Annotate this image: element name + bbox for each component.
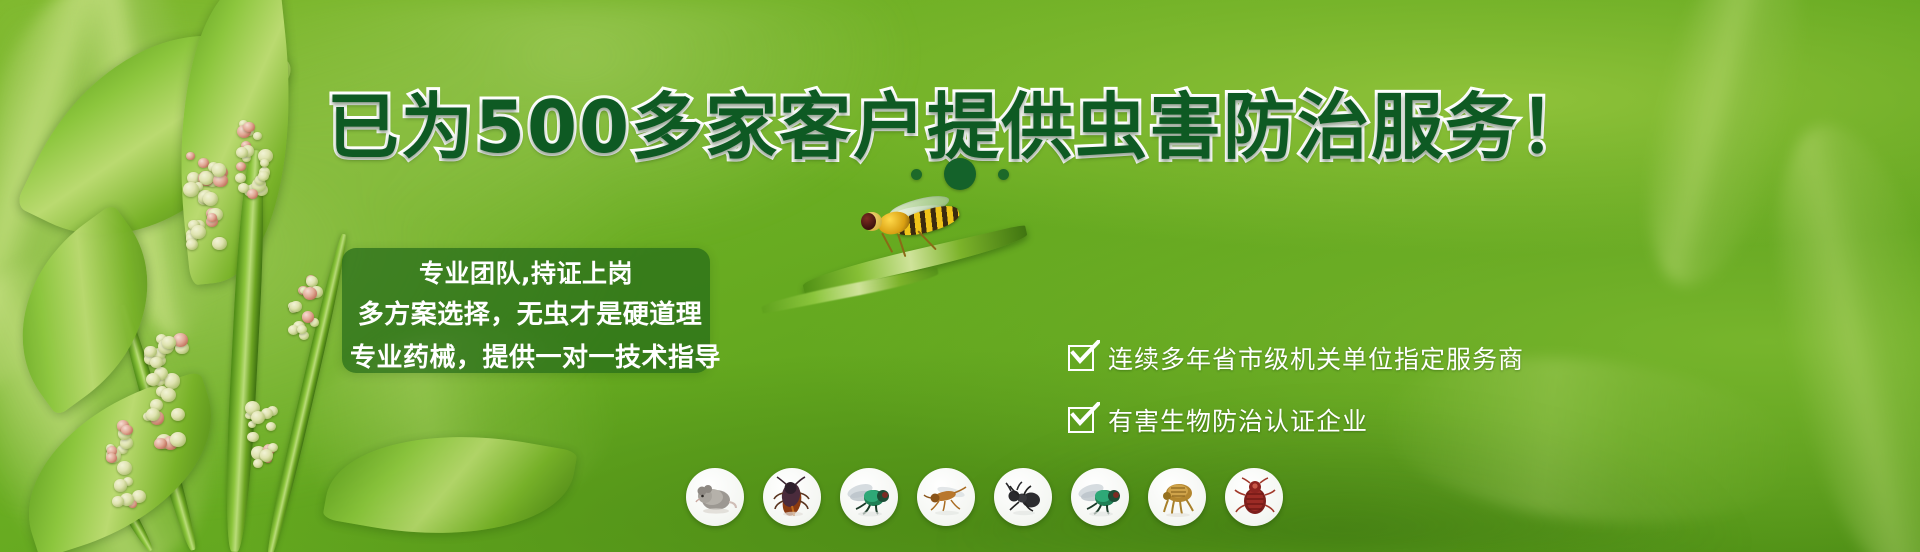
list-item-label: 连续多年省市级机关单位指定服务商 (1108, 340, 1524, 376)
mouse-icon (692, 474, 738, 520)
plant-bud (144, 346, 157, 358)
plant-bud (146, 408, 160, 421)
hoverfly-on-leaf-illustration (770, 188, 1030, 318)
plant-bud-pink (302, 311, 315, 323)
selling-point-line-3: 专业药械，提供一对一技术指导 (350, 337, 710, 379)
pest-icon-blowfly-1[interactable]: 苍蝇 (840, 468, 898, 526)
plant-bud (251, 411, 265, 424)
plant-bud (170, 432, 186, 447)
plant-bud-pink (121, 425, 132, 435)
plant-bud (117, 461, 132, 475)
ant-icon (1000, 474, 1046, 520)
pest-type-icon-row: 鼠 蟑螂 (686, 468, 1283, 526)
cockroach-icon (769, 474, 815, 520)
pest-icon-flea[interactable]: 跳蚤 (1148, 468, 1206, 526)
pest-icon-mosquito[interactable]: 蚊 (917, 468, 975, 526)
selling-point-line-2: 多方案选择，无虫才是硬道理 (350, 293, 710, 337)
pest-control-hero-banner: 已为500多家客户提供虫害防治服务！ 专业团队,持证上岗 多方案选择，无虫才是硬… (0, 0, 1920, 552)
flea-icon (1154, 474, 1200, 520)
plant-bud-pink (207, 213, 217, 222)
mosquito-icon (923, 474, 969, 520)
hoverfly-eye (861, 213, 876, 230)
pest-icon-mouse[interactable]: 鼠 (686, 468, 744, 526)
blowfly-icon (1077, 474, 1123, 520)
plant-bud (150, 357, 162, 368)
decorative-dot-row (0, 158, 1920, 190)
plant-bud (212, 237, 226, 250)
plant-bud (191, 225, 206, 239)
plant-bud (266, 422, 276, 431)
plant-bud (290, 301, 301, 312)
blowfly-icon (846, 474, 892, 520)
plant-bud-pink (303, 287, 317, 300)
plant-bud (112, 496, 124, 507)
plant-bud (253, 459, 263, 468)
list-item: 有害生物防治认证企业 (1068, 402, 1524, 438)
dot-small-left (911, 169, 922, 180)
dot-big-center (944, 158, 976, 190)
list-item-label: 有害生物防治认证企业 (1108, 402, 1368, 438)
checkbox-checked-icon (1068, 407, 1094, 433)
plant-bud (146, 373, 160, 386)
plant-bud-pink (247, 189, 258, 199)
list-item: 连续多年省市级机关单位指定服务商 (1068, 340, 1524, 376)
hoverfly-leg (897, 234, 906, 257)
plant-bud-pink (154, 438, 166, 449)
bedbug-icon (1231, 474, 1277, 520)
dot-small-right (998, 169, 1009, 180)
plant-bud (162, 336, 176, 349)
plant-bud (247, 432, 258, 442)
selling-point-line-1: 专业团队,持证上岗 (342, 255, 710, 293)
pest-icon-blowfly-2[interactable]: 绿头蝇 (1071, 468, 1129, 526)
plant-bud (114, 479, 128, 492)
pest-icon-ant[interactable]: 蚂蚁 (994, 468, 1052, 526)
hoverfly-leg (881, 233, 893, 253)
checkbox-checked-icon (1068, 345, 1094, 371)
pest-icon-cockroach[interactable]: 蟑螂 (763, 468, 821, 526)
pest-icon-bedbug[interactable]: 臭虫 (1225, 468, 1283, 526)
plant-bud (260, 449, 273, 461)
plant-leaf (322, 410, 577, 552)
selling-points-panel: 专业团队,持证上岗 多方案选择，无虫才是硬道理 专业药械，提供一对一技术指导 (342, 248, 710, 373)
certification-bullet-list: 连续多年省市级机关单位指定服务商 有害生物防治认证企业 (1068, 340, 1524, 438)
hoverfly-icon (858, 196, 968, 254)
hoverfly-leg (917, 230, 936, 250)
